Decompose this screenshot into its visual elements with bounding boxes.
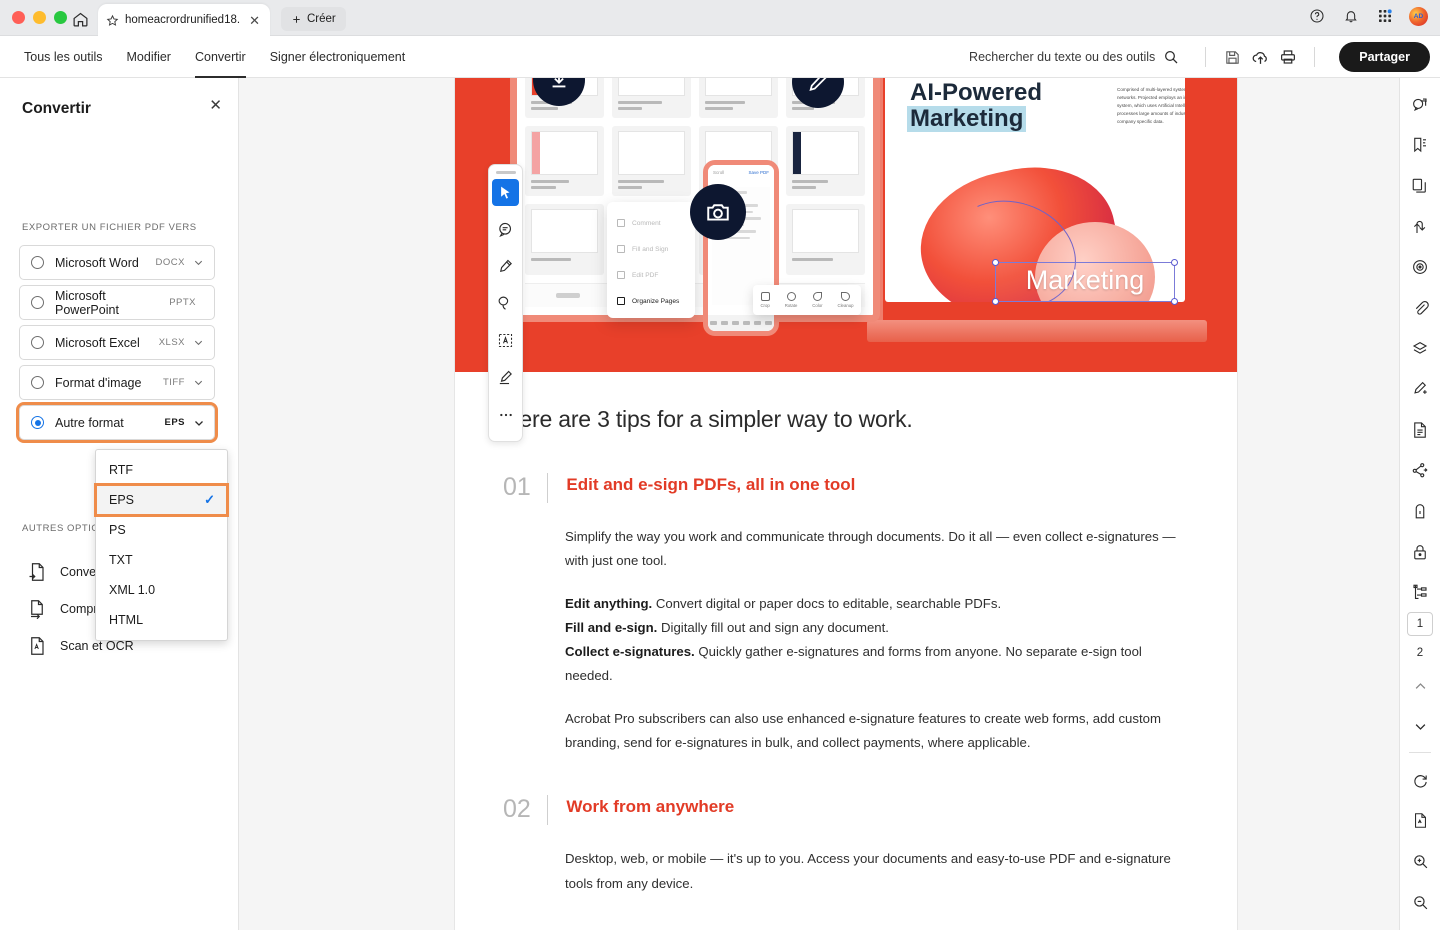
- section-divider: [547, 473, 548, 503]
- toolbar-drag-handle[interactable]: [496, 171, 516, 174]
- comments-icon[interactable]: [1405, 91, 1435, 119]
- section-number: 01: [503, 473, 547, 500]
- menu-item-modifier[interactable]: Modifier: [115, 36, 183, 78]
- highlight-tool[interactable]: [492, 253, 519, 280]
- section-closing-paragraph: Acrobat Pro subscribers can also use enh…: [565, 707, 1189, 756]
- section-header-02: 02 Work from anywhere: [503, 795, 1189, 825]
- fill-and-sign-icon[interactable]: [1405, 375, 1435, 403]
- page-title: Here are 3 tips for a simpler way to wor…: [503, 406, 1189, 433]
- scan-ocr-icon: [28, 636, 46, 656]
- menu-item-signer-electroniquement[interactable]: Signer électroniquement: [258, 36, 418, 78]
- user-avatar[interactable]: AD: [1409, 7, 1428, 26]
- help-icon[interactable]: [1307, 6, 1327, 26]
- chevron-down-icon[interactable]: [193, 377, 204, 388]
- radio-button[interactable]: [31, 336, 44, 349]
- browser-tab-title: homeacrordrunified18...: [125, 14, 241, 26]
- dropdown-item-label: EPS: [109, 493, 134, 507]
- export-section-label: EXPORTER UN FICHIER PDF VERS: [22, 222, 197, 233]
- panel-title: Convertir: [22, 100, 91, 118]
- close-window-button[interactable]: [12, 11, 25, 24]
- hero-menu-label: Fill and Sign: [632, 246, 668, 253]
- section-number: 02: [503, 795, 547, 822]
- search-icon[interactable]: [1163, 49, 1179, 65]
- format-extension: TIFF: [163, 377, 185, 388]
- format-option-autre-format[interactable]: Autre format EPS: [19, 405, 215, 440]
- document-canvas[interactable]: AI-Powered Marketing Comprised of multi-…: [239, 78, 1399, 930]
- bullet-text: Convert digital or paper docs to editabl…: [652, 596, 1001, 611]
- chevron-down-icon[interactable]: [193, 337, 204, 348]
- format-label: Microsoft Word: [55, 256, 156, 270]
- select-cursor-tool[interactable]: [492, 179, 519, 206]
- format-extension: EPS: [164, 417, 185, 428]
- hero-tool: Rotate: [785, 292, 798, 308]
- panel-close-icon[interactable]: ✕: [209, 98, 222, 113]
- hero-file-card: [786, 126, 865, 197]
- resize-handle-top-left[interactable]: [992, 259, 999, 266]
- radio-button[interactable]: [31, 376, 44, 389]
- document-body: Here are 3 tips for a simpler way to wor…: [455, 372, 1237, 914]
- share-flow-icon[interactable]: [1405, 457, 1435, 485]
- menu-item-convertir[interactable]: Convertir: [183, 36, 258, 78]
- hero-menu-label: Comment: [632, 220, 661, 227]
- dropdown-item-label: XML 1.0: [109, 583, 155, 597]
- comment-tool[interactable]: [492, 216, 519, 243]
- section-header-01: 01 Edit and e-sign PDFs, all in one tool: [503, 473, 1189, 503]
- bullet-lead: Collect e-signatures.: [565, 644, 695, 659]
- bell-icon[interactable]: [1341, 6, 1361, 26]
- dropdown-item-label: RTF: [109, 463, 133, 477]
- hero-headline: AI-Powered Marketing: [907, 80, 1045, 132]
- minimize-window-button[interactable]: [33, 11, 46, 24]
- chevron-up-icon[interactable]: [1405, 672, 1435, 700]
- bullet-lead: Fill and e-sign.: [565, 620, 657, 635]
- structure-icon[interactable]: [1405, 579, 1435, 607]
- dropdown-item-label: TXT: [109, 553, 133, 567]
- right-rail: 1 2: [1399, 78, 1440, 930]
- menubar-right: Rechercher du texte ou des outils: [969, 36, 1430, 78]
- divider: [1314, 47, 1315, 67]
- pdf-page: AI-Powered Marketing Comprised of multi-…: [455, 78, 1237, 930]
- selected-text-value: Marketing: [996, 265, 1174, 296]
- radio-button-selected[interactable]: [31, 416, 44, 429]
- layers-icon[interactable]: [1405, 335, 1435, 363]
- format-extension: XLSX: [159, 337, 185, 348]
- format-extension: PPTX: [169, 297, 196, 308]
- format-extension: DOCX: [156, 257, 185, 268]
- radio-button[interactable]: [31, 296, 44, 309]
- dropdown-item-label: HTML: [109, 613, 143, 627]
- chevron-down-icon[interactable]: [1405, 713, 1435, 741]
- format-label: Autre format: [55, 416, 164, 430]
- camera-badge-icon: [690, 184, 746, 240]
- cloud-upload-icon[interactable]: [1246, 43, 1274, 71]
- format-option-microsoft-excel[interactable]: Microsoft Excel XLSX: [19, 325, 215, 360]
- convert-to-pdf-icon: [28, 562, 46, 582]
- select-text-area-tool[interactable]: [492, 327, 519, 354]
- format-label: Microsoft Excel: [55, 336, 159, 350]
- page-number-current[interactable]: 1: [1407, 612, 1433, 636]
- menu-label: Convertir: [195, 50, 246, 64]
- selected-text-object[interactable]: Marketing: [995, 262, 1175, 302]
- annotation-toolbar[interactable]: [488, 164, 523, 442]
- divider: [1409, 752, 1431, 753]
- dropdown-item-html[interactable]: HTML: [96, 605, 227, 635]
- hero-file-card: [786, 204, 865, 275]
- format-option-microsoft-powerpoint[interactable]: Microsoft PowerPoint PPTX: [19, 285, 215, 320]
- hero-menu-label: Edit PDF: [632, 272, 658, 279]
- hero-menu-label: Organize Pages: [632, 298, 679, 305]
- other-format-dropdown-menu[interactable]: RTF EPS ✓ PS TXT XML 1.0 HTML: [95, 449, 228, 641]
- chrome-right-icons: AD: [1307, 6, 1428, 26]
- hero-paragraph: Comprised of multi-layered systems of ne…: [1117, 86, 1185, 126]
- divider: [1205, 47, 1206, 67]
- acrobat-menubar: Tous les outils Modifier Convertir Signe…: [0, 36, 1440, 78]
- redact-icon[interactable]: [1405, 254, 1435, 282]
- share-button[interactable]: Partager: [1339, 42, 1430, 72]
- signature-tool[interactable]: [492, 364, 519, 391]
- resize-handle-top-right[interactable]: [1171, 259, 1178, 266]
- chevron-down-icon[interactable]: [193, 417, 204, 428]
- hero-file-card: [525, 204, 604, 275]
- window-traffic-lights: [12, 11, 67, 24]
- hero-tool: Cleanup: [838, 292, 854, 308]
- maximize-window-button[interactable]: [54, 11, 67, 24]
- format-label: Format d'image: [55, 376, 163, 390]
- search-placeholder: Rechercher du texte ou des outils: [969, 50, 1155, 64]
- save-icon[interactable]: [1218, 43, 1246, 71]
- resize-handle-bottom-left[interactable]: [992, 298, 999, 305]
- format-option-list: Microsoft Word DOCX Microsoft PowerPoint…: [19, 245, 215, 445]
- hero-file-card: [699, 78, 778, 118]
- browser-chrome: homeacrordrunified18... ✕ Créer: [0, 0, 1440, 36]
- section-title: Edit and e-sign PDFs, all in one tool: [566, 473, 855, 495]
- hero-file-card: [612, 126, 691, 197]
- apps-grid-icon[interactable]: [1375, 6, 1395, 26]
- more-tools[interactable]: [492, 401, 519, 428]
- menu-item-tous-les-outils[interactable]: Tous les outils: [12, 36, 115, 78]
- hero-file-card: [525, 126, 604, 197]
- section-divider: [547, 795, 548, 825]
- star-icon: [106, 14, 119, 27]
- organize-pages-icon[interactable]: [1405, 213, 1435, 241]
- format-option-format-dimage[interactable]: Format d'image TIFF: [19, 365, 215, 400]
- resize-handle-bottom-right[interactable]: [1171, 298, 1178, 305]
- dropdown-item-label: PS: [109, 523, 126, 537]
- hero-shelf-decor: [867, 320, 1207, 342]
- section-bullet: Fill and e-sign. Digitally fill out and …: [565, 616, 1189, 640]
- zoom-in-icon[interactable]: [1405, 848, 1435, 876]
- menu-label: Signer électroniquement: [270, 50, 406, 64]
- compress-pdf-icon: [28, 599, 46, 619]
- section-title: Work from anywhere: [566, 795, 734, 817]
- section-body-02: Desktop, web, or mobile — it's up to you…: [565, 847, 1189, 896]
- page-thumbnails-icon[interactable]: [1405, 172, 1435, 200]
- hero-file-card: [612, 78, 691, 118]
- page-number-next[interactable]: 2: [1417, 647, 1423, 659]
- hero-phone-toolbar: Crop Rotate Color Cleanup: [753, 285, 861, 315]
- radio-button[interactable]: [31, 256, 44, 269]
- home-icon[interactable]: [68, 7, 92, 31]
- convert-panel: Convertir ✕ EXPORTER UN FICHIER PDF VERS…: [0, 78, 239, 930]
- dropdown-item-rtf[interactable]: RTF: [96, 455, 227, 485]
- avatar-initials: AD: [1414, 13, 1423, 20]
- new-tab-label: Créer: [307, 13, 336, 25]
- document-properties-icon[interactable]: [1405, 416, 1435, 444]
- menu-label: Modifier: [127, 50, 171, 64]
- search-input[interactable]: Rechercher du texte ou des outils: [969, 49, 1179, 65]
- hero-headline-line1: AI-Powered: [907, 80, 1045, 106]
- page-settings-icon[interactable]: [1405, 807, 1435, 835]
- bullet-lead: Edit anything.: [565, 596, 652, 611]
- section-paragraph: Desktop, web, or mobile — it's up to you…: [565, 847, 1189, 896]
- hero-menu-item: Organize Pages: [607, 288, 695, 314]
- format-label: Microsoft PowerPoint: [55, 289, 169, 317]
- hero-tool: Color: [812, 292, 822, 308]
- zoom-out-icon[interactable]: [1405, 888, 1435, 916]
- rotate-icon[interactable]: [1405, 766, 1435, 794]
- acrobat-window: homeacrordrunified18... ✕ Créer: [0, 0, 1440, 930]
- section-body-01: Simplify the way you work and communicat…: [565, 525, 1189, 755]
- tags-icon[interactable]: [1405, 497, 1435, 525]
- dropdown-item-xml-10[interactable]: XML 1.0: [96, 575, 227, 605]
- hero-banner-image: AI-Powered Marketing Comprised of multi-…: [455, 78, 1237, 372]
- section-bullet: Collect e-signatures. Quickly gather e-s…: [565, 640, 1189, 689]
- hero-menu-item: Comment: [607, 210, 695, 236]
- browser-tab[interactable]: homeacrordrunified18... ✕: [98, 4, 270, 36]
- bullet-text: Digitally fill out and sign any document…: [657, 620, 889, 635]
- chevron-down-icon[interactable]: [193, 257, 204, 268]
- attachments-icon[interactable]: [1405, 294, 1435, 322]
- close-icon[interactable]: ✕: [247, 14, 262, 27]
- hero-headline-line2: Marketing: [907, 106, 1026, 132]
- hero-menu-item: Fill and Sign: [607, 236, 695, 262]
- new-tab-button[interactable]: Créer: [281, 7, 346, 31]
- format-option-microsoft-word[interactable]: Microsoft Word DOCX: [19, 245, 215, 280]
- section-bullet: Edit anything. Convert digital or paper …: [565, 592, 1189, 616]
- menu-label: Tous les outils: [24, 50, 103, 64]
- section-paragraph: Simplify the way you work and communicat…: [565, 525, 1189, 574]
- print-icon[interactable]: [1274, 43, 1302, 71]
- hero-menu-item: Edit PDF: [607, 262, 695, 288]
- dropdown-item-txt[interactable]: TXT: [96, 545, 227, 575]
- dropdown-item-eps[interactable]: EPS ✓: [96, 485, 227, 515]
- dropdown-item-ps[interactable]: PS: [96, 515, 227, 545]
- bookmarks-icon[interactable]: [1405, 132, 1435, 160]
- protect-lock-icon[interactable]: [1405, 538, 1435, 566]
- draw-lasso-tool[interactable]: [492, 290, 519, 317]
- share-label: Partager: [1359, 50, 1410, 64]
- hero-context-menu: Comment Fill and Sign Edit PDF Organize …: [607, 202, 695, 318]
- menubar-items: Tous les outils Modifier Convertir Signe…: [12, 36, 417, 78]
- hero-tool: Crop: [760, 292, 769, 308]
- check-icon: ✓: [204, 492, 215, 508]
